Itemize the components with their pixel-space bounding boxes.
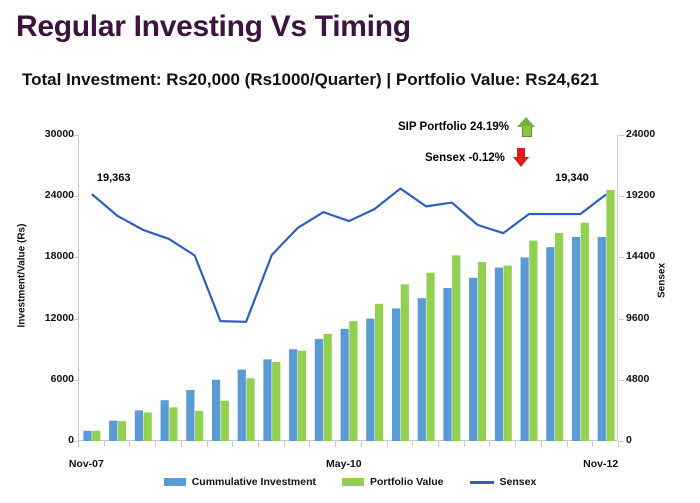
bar-portfolio-value	[581, 223, 589, 441]
x-axis-tick-mark	[489, 441, 490, 447]
x-axis-tick-mark	[387, 441, 388, 447]
bar-portfolio-value	[92, 431, 100, 441]
bar-cumulative-investment	[341, 329, 349, 441]
y-axis-tick-mark-right	[619, 380, 624, 381]
y-axis-tick-right: 9600	[626, 312, 649, 324]
x-axis-tick-mark	[464, 441, 465, 447]
chart-plot-area	[78, 135, 618, 441]
bar-cumulative-investment	[263, 359, 271, 441]
chart-subtitle: Total Investment: Rs20,000 (Rs1000/Quart…	[22, 70, 599, 90]
y-axis-tick-right: 0	[626, 434, 632, 446]
x-axis-tick-mark	[309, 441, 310, 447]
y-axis-tick-left: 18000	[45, 250, 74, 262]
x-axis-tick-mark	[78, 441, 79, 447]
x-axis-tick-mark	[438, 441, 439, 447]
x-axis-tick-mark	[284, 441, 285, 447]
bar-portfolio-value	[324, 334, 332, 441]
x-axis-tick-mark	[335, 441, 336, 447]
y-axis-tick-mark-right	[619, 257, 624, 258]
chart-legend: Cummulative InvestmentPortfolio ValueSen…	[0, 476, 700, 488]
bar-portfolio-value	[349, 321, 357, 441]
y-axis-tick-left: 30000	[45, 128, 74, 140]
line-data-label: 19,363	[97, 172, 131, 184]
bar-portfolio-value	[375, 304, 383, 441]
bar-portfolio-value	[118, 421, 126, 441]
x-axis-tick-mark	[258, 441, 259, 447]
bar-cumulative-investment	[495, 268, 503, 441]
legend-item[interactable]: Sensex	[470, 476, 537, 488]
legend-item[interactable]: Cummulative Investment	[164, 476, 316, 488]
x-axis-tick-mark	[104, 441, 105, 447]
legend-line-icon	[470, 481, 494, 484]
bar-cumulative-investment	[289, 349, 297, 441]
legend-label: Sensex	[500, 476, 537, 488]
y-axis-tick-right: 19200	[626, 189, 655, 201]
x-axis-tick-mark	[618, 441, 619, 447]
y-axis-tick-left: 6000	[51, 373, 74, 385]
legend-swatch-icon	[342, 478, 364, 486]
legend-label: Portfolio Value	[370, 476, 444, 488]
bar-portfolio-value	[246, 378, 254, 441]
bar-cumulative-investment	[315, 339, 323, 441]
bar-portfolio-value	[195, 411, 203, 441]
bar-portfolio-value	[504, 266, 512, 441]
y-axis-tick-mark-right	[619, 319, 624, 320]
y-axis-tick-right: 4800	[626, 373, 649, 385]
bar-cumulative-investment	[83, 431, 91, 441]
x-axis-tick-mark	[207, 441, 208, 447]
x-axis-tick-mark	[592, 441, 593, 447]
bar-portfolio-value	[478, 262, 486, 441]
bar-cumulative-investment	[469, 278, 477, 441]
x-axis-tick-mark	[567, 441, 568, 447]
bar-cumulative-investment	[212, 380, 220, 441]
bar-portfolio-value	[452, 255, 460, 441]
y-axis-tick-mark-right	[619, 196, 624, 197]
line-data-label: 19,340	[555, 172, 589, 184]
legend-swatch-icon	[164, 478, 186, 486]
y-axis-label-right: Sensex	[657, 251, 668, 311]
y-axis-tick-left: 12000	[45, 312, 74, 324]
bar-portfolio-value	[272, 362, 280, 441]
y-axis-label-left: Investment/Value (Rs)	[17, 206, 28, 346]
bar-portfolio-value	[529, 241, 537, 441]
bar-cumulative-investment	[366, 319, 374, 441]
x-axis-tick-label: Nov-07	[69, 458, 104, 470]
y-axis-tick-left: 24000	[45, 189, 74, 201]
x-axis-tick-mark	[361, 441, 362, 447]
bar-cumulative-investment	[521, 257, 529, 441]
bar-cumulative-investment	[443, 288, 451, 441]
x-axis-tick-mark	[515, 441, 516, 447]
legend-label: Cummulative Investment	[192, 476, 316, 488]
y-axis-tick-right: 14400	[626, 250, 655, 262]
x-axis-tick-mark	[232, 441, 233, 447]
x-axis-tick-mark	[181, 441, 182, 447]
bar-portfolio-value	[221, 401, 229, 441]
y-axis-tick-mark-right	[619, 135, 624, 136]
bar-cumulative-investment	[135, 410, 143, 441]
bar-cumulative-investment	[392, 308, 400, 441]
x-axis-tick-label: Nov-12	[583, 458, 618, 470]
page-title: Regular Investing Vs Timing	[16, 10, 411, 44]
bar-portfolio-value	[555, 233, 563, 441]
y-axis-tick-left: 0	[68, 434, 74, 446]
bar-cumulative-investment	[186, 390, 194, 441]
y-axis-tick-right: 24000	[626, 128, 655, 140]
bar-cumulative-investment	[109, 421, 117, 441]
bar-cumulative-investment	[598, 237, 606, 441]
x-axis-tick-mark	[541, 441, 542, 447]
bar-cumulative-investment	[418, 298, 426, 441]
bar-cumulative-investment	[572, 237, 580, 441]
y-axis-tick-mark-right	[619, 441, 624, 442]
x-axis-tick-mark	[155, 441, 156, 447]
legend-item[interactable]: Portfolio Value	[342, 476, 444, 488]
chart-svg	[79, 135, 619, 441]
line-sensex	[92, 189, 606, 322]
bar-portfolio-value	[401, 284, 409, 441]
bar-portfolio-value	[426, 273, 434, 441]
bar-cumulative-investment	[161, 400, 169, 441]
x-axis-tick-mark	[412, 441, 413, 447]
bar-portfolio-value	[298, 351, 306, 441]
bar-cumulative-investment	[238, 370, 246, 441]
bar-portfolio-value	[169, 407, 177, 441]
x-axis-tick-label: May-10	[326, 458, 362, 470]
bar-cumulative-investment	[546, 247, 554, 441]
bar-portfolio-value	[144, 412, 152, 441]
x-axis-tick-mark	[129, 441, 130, 447]
bar-portfolio-value	[606, 190, 614, 441]
chart-plot-wrapper: Investment/Value (Rs) Sensex 06000120001…	[0, 125, 700, 455]
